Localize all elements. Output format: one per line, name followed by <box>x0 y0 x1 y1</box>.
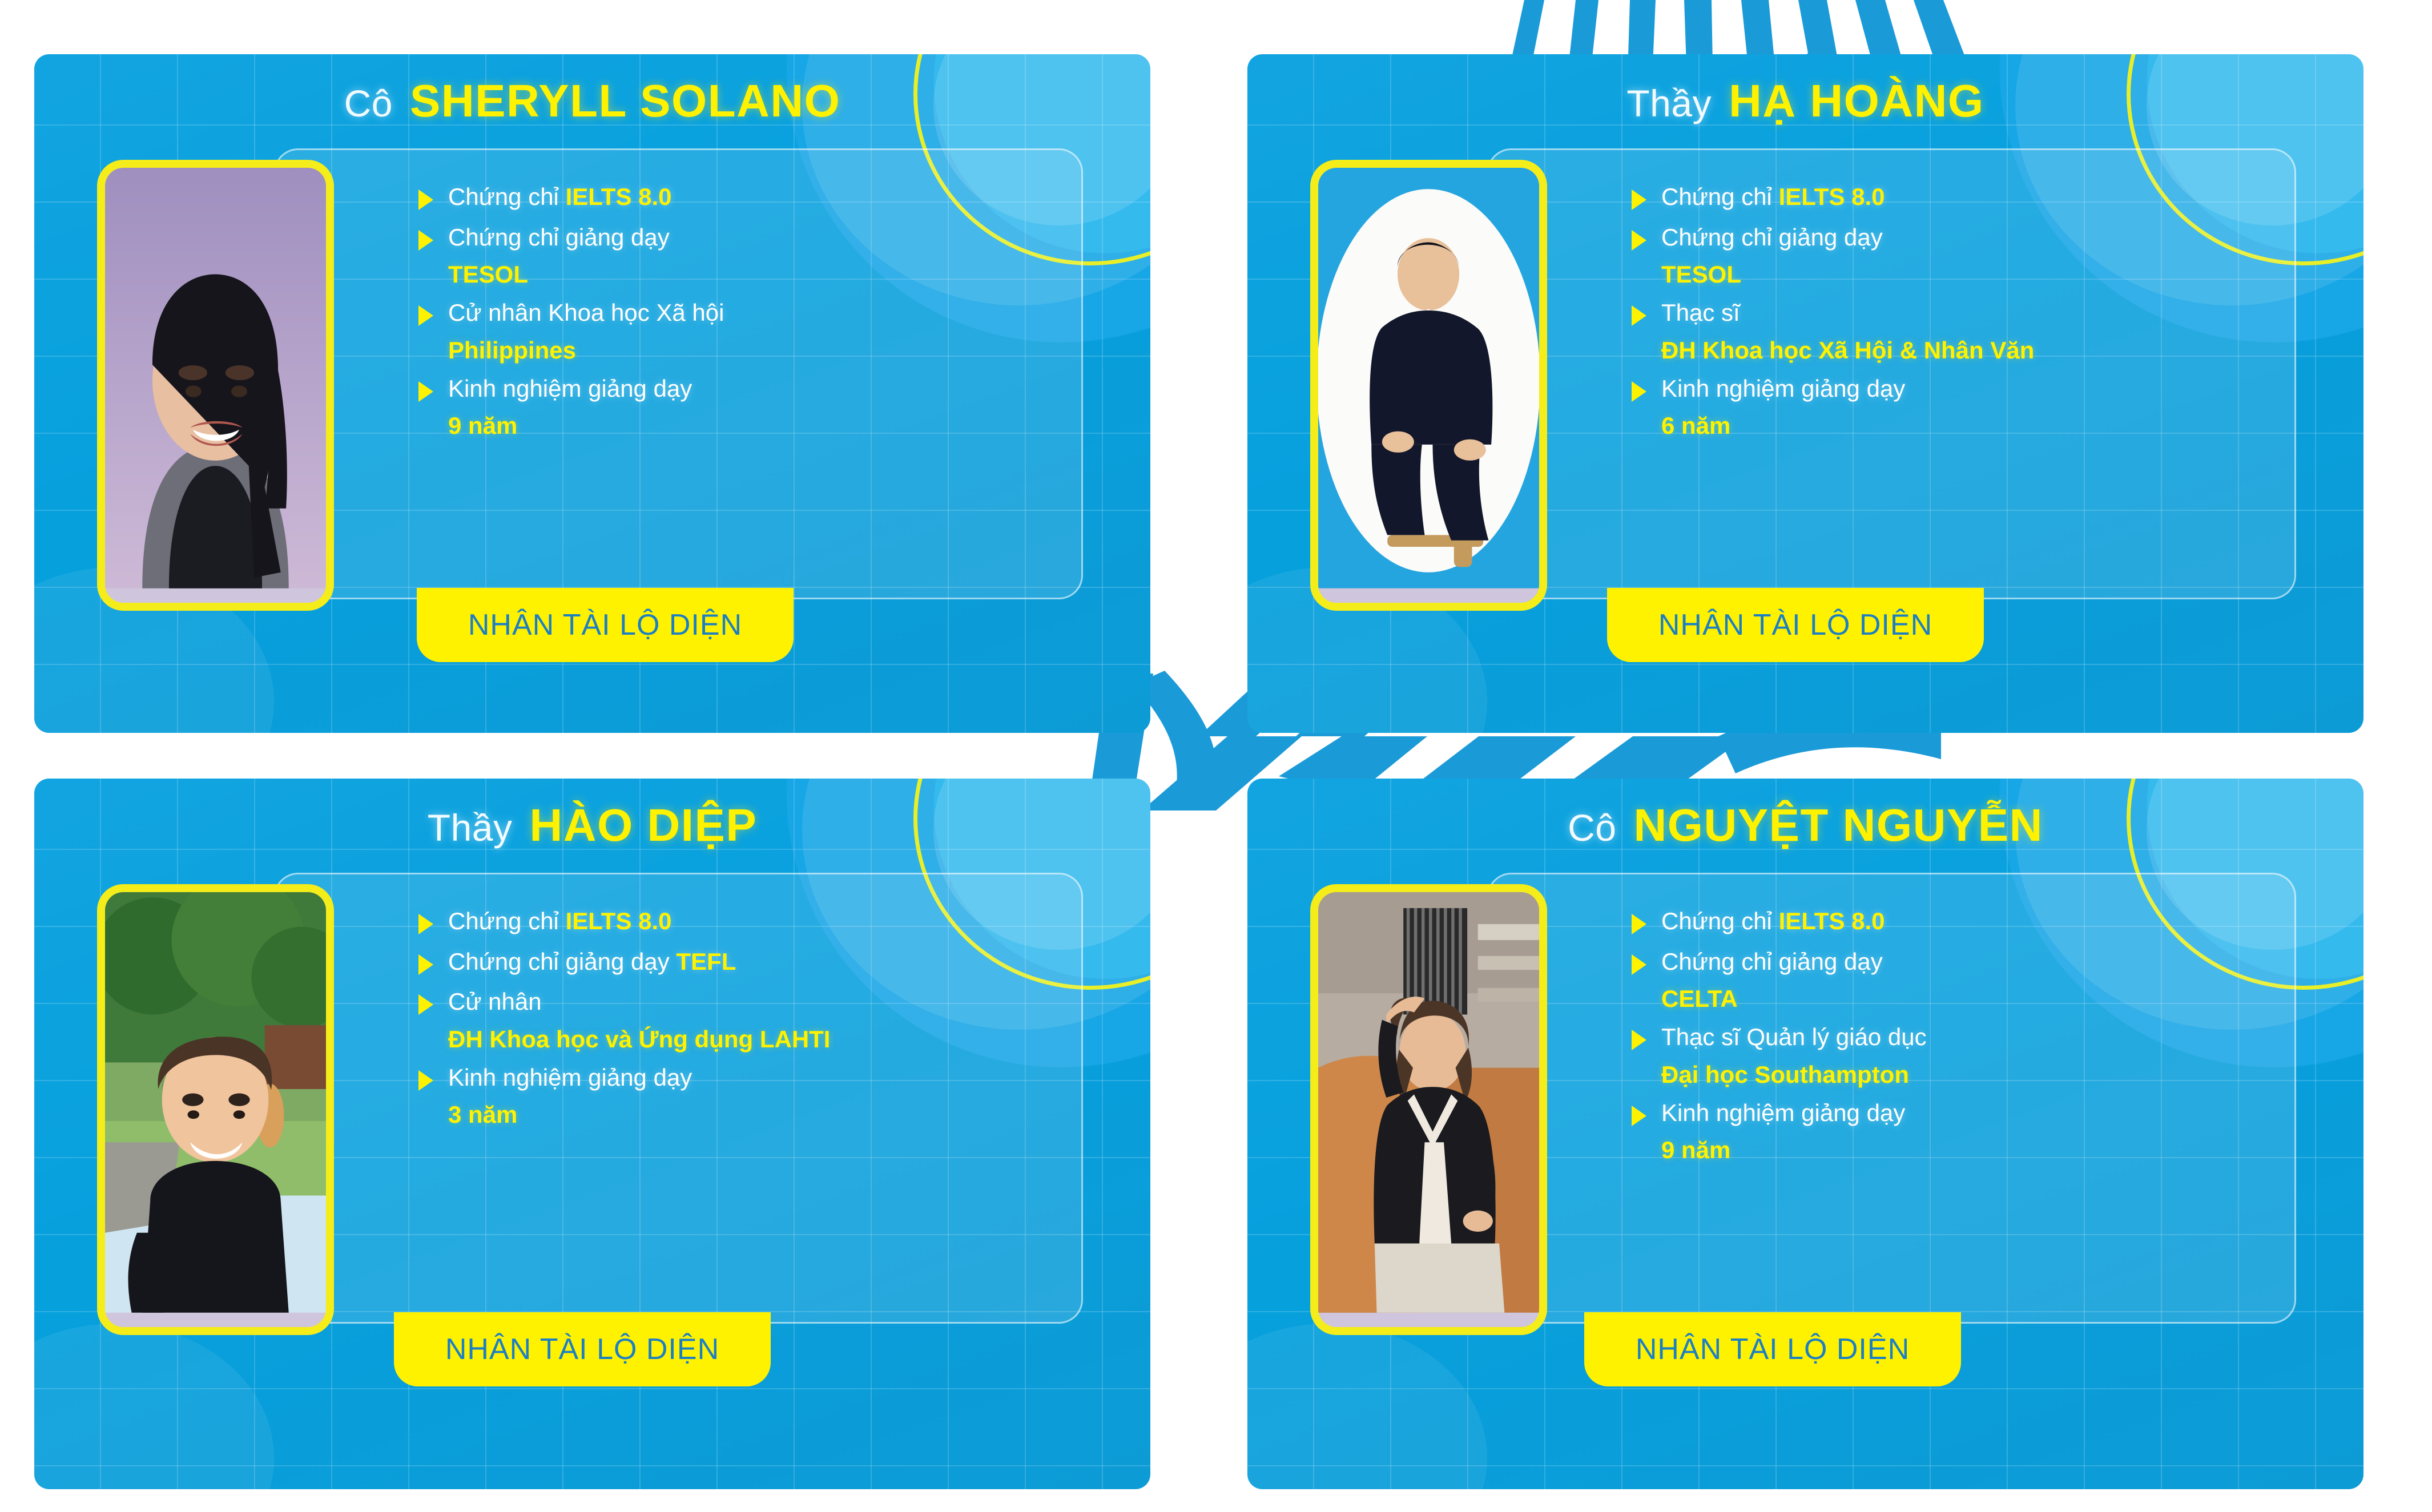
card-header: Thầy HẠ HOÀNG <box>1247 75 2363 127</box>
credential-text: Kinh nghiệm giảng dạy <box>448 1062 692 1094</box>
list-item: Chứng chỉ IELTS 8.0 <box>418 182 1058 213</box>
list-item: Kinh nghiệm giảng dạy 6 năm <box>1632 373 2272 440</box>
card-body: Chứng chỉ IELTS 8.0 Chứng chỉ giảng dạy … <box>97 148 1083 710</box>
photo-hao-diep <box>97 884 334 1335</box>
triangle-bullet-icon <box>1632 1030 1646 1050</box>
honorific-label: Thầy <box>428 806 513 849</box>
card-body: Chứng chỉ IELTS 8.0 Chứng chỉ giảng dạy … <box>97 873 1083 1466</box>
credential-text: Chứng chỉ giảng dạy <box>1661 946 1883 978</box>
cta-button[interactable]: NHÂN TÀI LỘ DIỆN <box>417 588 794 662</box>
triangle-bullet-icon <box>1632 1106 1646 1126</box>
credential-text: Kinh nghiệm giảng dạy <box>1661 373 1905 405</box>
triangle-bullet-icon <box>1632 914 1646 934</box>
triangle-bullet-icon <box>418 230 433 251</box>
triangle-bullet-icon <box>1632 189 1646 210</box>
credential-subtext: 6 năm <box>1661 412 2272 440</box>
page-title: HÀO DIỆP <box>530 799 758 852</box>
triangle-bullet-icon <box>1632 230 1646 251</box>
list-item: Kinh nghiệm giảng dạy 9 năm <box>1632 1098 2272 1164</box>
list-item: Chứng chỉ giảng dạy CELTA <box>1632 946 2272 1013</box>
credential-text: Kinh nghiệm giảng dạy <box>1661 1098 1905 1129</box>
credentials-panel: Chứng chỉ IELTS 8.0 Chứng chỉ giảng dạy … <box>274 148 1083 599</box>
list-item: Thạc sĩ Quản lý giáo dục Đại học Southam… <box>1632 1022 2272 1088</box>
credentials-list: Chứng chỉ IELTS 8.0 Chứng chỉ giảng dạy … <box>418 906 1058 1128</box>
triangle-bullet-icon <box>418 914 433 934</box>
list-item: Chứng chỉ giảng dạy TESOL <box>1632 222 2272 289</box>
cta-button[interactable]: NHÂN TÀI LỘ DIỆN <box>1607 588 1984 662</box>
credential-text: Chứng chỉ giảng dạy TEFL <box>448 946 736 978</box>
triangle-bullet-icon <box>418 381 433 402</box>
cell-bottom-right: Cô NGUYỆT NGUYỄN Chứng chỉ IELTS 8.0 <box>1216 756 2432 1512</box>
list-item: Chứng chỉ IELTS 8.0 <box>418 906 1058 937</box>
list-item: Chứng chỉ giảng dạy TESOL <box>418 222 1058 289</box>
credentials-list: Chứng chỉ IELTS 8.0 Chứng chỉ giảng dạy … <box>1632 906 2272 1164</box>
credential-text: Kinh nghiệm giảng dạy <box>448 373 692 405</box>
credential-text: Cử nhân Khoa học Xã hội <box>448 297 724 329</box>
credential-subtext: Đại học Southampton <box>1661 1061 2272 1088</box>
list-item: Chứng chỉ giảng dạy TEFL <box>418 946 1058 978</box>
credential-text: Chứng chỉ IELTS 8.0 <box>448 182 672 213</box>
teacher-card-4[interactable]: Cô NGUYỆT NGUYỄN Chứng chỉ IELTS 8.0 <box>1247 779 2363 1489</box>
cell-top-right: Thầy HẠ HOÀNG Chứng chỉ IELTS 8.0 <box>1216 0 2432 756</box>
credential-text: Chứng chỉ IELTS 8.0 <box>1661 906 1885 937</box>
page-title: SHERYLL SOLANO <box>410 75 840 127</box>
triangle-bullet-icon <box>418 994 433 1015</box>
honorific-label: Cô <box>1568 806 1616 849</box>
credential-text: Chứng chỉ giảng dạy <box>448 222 670 253</box>
credentials-panel: Chứng chỉ IELTS 8.0 Chứng chỉ giảng dạy … <box>1487 873 2296 1324</box>
triangle-bullet-icon <box>418 1070 433 1091</box>
page-title: HẠ HOÀNG <box>1729 75 1984 127</box>
card-header: Cô SHERYLL SOLANO <box>34 75 1150 127</box>
list-item: Kinh nghiệm giảng dạy 9 năm <box>418 373 1058 440</box>
card-body: Chứng chỉ IELTS 8.0 Chứng chỉ giảng dạy … <box>1310 873 2296 1466</box>
credentials-panel: Chứng chỉ IELTS 8.0 Chứng chỉ giảng dạy … <box>274 873 1083 1324</box>
credential-text: Thạc sĩ Quản lý giáo dục <box>1661 1022 1927 1053</box>
credential-text: Cử nhân <box>448 986 542 1018</box>
credential-text: Thạc sĩ <box>1661 297 1740 329</box>
triangle-bullet-icon <box>418 954 433 975</box>
credential-subtext: CELTA <box>1661 985 2272 1013</box>
credential-subtext: Philippines <box>448 337 1058 364</box>
triangle-bullet-icon <box>1632 381 1646 402</box>
card-grid: Cô SHERYLL SOLANO Chứng chỉ IELTS 8.0 <box>0 0 2432 1512</box>
list-item: Chứng chỉ IELTS 8.0 <box>1632 906 2272 937</box>
photo-sheryll-solano <box>97 160 334 611</box>
credentials-panel: Chứng chỉ IELTS 8.0 Chứng chỉ giảng dạy … <box>1487 148 2296 599</box>
cell-bottom-left: Thầy HÀO DIỆP Chứng chỉ IELTS 8.0 <box>0 756 1216 1512</box>
teacher-card-3[interactable]: Thầy HÀO DIỆP Chứng chỉ IELTS 8.0 <box>34 779 1150 1489</box>
card-header: Thầy HÀO DIỆP <box>34 799 1150 852</box>
credential-subtext: 9 năm <box>1661 1136 2272 1164</box>
card-header: Cô NGUYỆT NGUYỄN <box>1247 799 2363 852</box>
cta-button[interactable]: NHÂN TÀI LỘ DIỆN <box>394 1312 771 1386</box>
list-item: Cử nhân Khoa học Xã hội Philippines <box>418 297 1058 364</box>
cell-top-left: Cô SHERYLL SOLANO Chứng chỉ IELTS 8.0 <box>0 0 1216 756</box>
triangle-bullet-icon <box>1632 954 1646 975</box>
credential-subtext: TESOL <box>448 261 1058 288</box>
list-item: Cử nhân ĐH Khoa học và Ứng dụng LAHTI <box>418 986 1058 1053</box>
credential-text: Chứng chỉ giảng dạy <box>1661 222 1883 253</box>
triangle-bullet-icon <box>418 189 433 210</box>
credential-subtext: TESOL <box>1661 261 2272 288</box>
list-item: Thạc sĩ ĐH Khoa học Xã Hội & Nhân Văn <box>1632 297 2272 364</box>
triangle-bullet-icon <box>1632 305 1646 326</box>
honorific-label: Cô <box>344 82 393 125</box>
photo-ha-hoang <box>1310 160 1547 611</box>
credentials-list: Chứng chỉ IELTS 8.0 Chứng chỉ giảng dạy … <box>1632 182 2272 440</box>
credential-subtext: ĐH Khoa học Xã Hội & Nhân Văn <box>1661 337 2272 364</box>
page-title: NGUYỆT NGUYỄN <box>1634 799 2043 852</box>
card-body: Chứng chỉ IELTS 8.0 Chứng chỉ giảng dạy … <box>1310 148 2296 710</box>
cta-button[interactable]: NHÂN TÀI LỘ DIỆN <box>1584 1312 1961 1386</box>
list-item: Chứng chỉ IELTS 8.0 <box>1632 182 2272 213</box>
list-item: Kinh nghiệm giảng dạy 3 năm <box>418 1062 1058 1129</box>
credential-text: Chứng chỉ IELTS 8.0 <box>448 906 672 937</box>
credential-subtext: ĐH Khoa học và Ứng dụng LAHTI <box>448 1026 1058 1053</box>
credential-subtext: 9 năm <box>448 412 1058 440</box>
triangle-bullet-icon <box>418 305 433 326</box>
teacher-profile-collage: Cô SHERYLL SOLANO Chứng chỉ IELTS 8.0 <box>0 0 2432 1512</box>
credentials-list: Chứng chỉ IELTS 8.0 Chứng chỉ giảng dạy … <box>418 182 1058 440</box>
teacher-card-2[interactable]: Thầy HẠ HOÀNG Chứng chỉ IELTS 8.0 <box>1247 54 2363 733</box>
credential-text: Chứng chỉ IELTS 8.0 <box>1661 182 1885 213</box>
honorific-label: Thầy <box>1626 82 1712 125</box>
teacher-card-1[interactable]: Cô SHERYLL SOLANO Chứng chỉ IELTS 8.0 <box>34 54 1150 733</box>
photo-nguyet-nguyen <box>1310 884 1547 1335</box>
credential-subtext: 3 năm <box>448 1101 1058 1128</box>
